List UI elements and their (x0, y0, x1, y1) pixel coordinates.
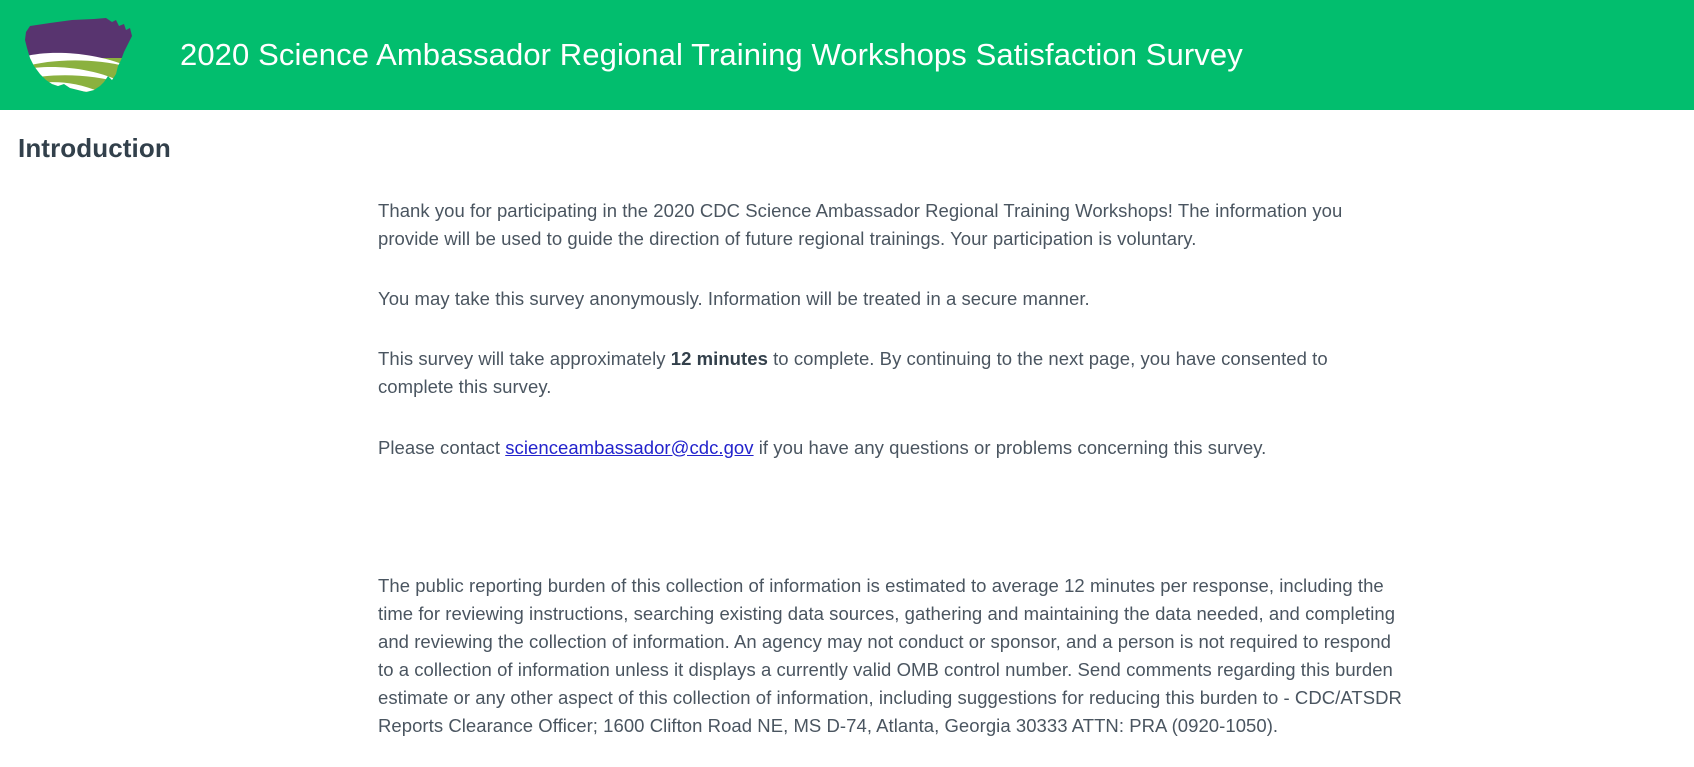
contact-email-link[interactable]: scienceambassador@cdc.gov (505, 437, 753, 458)
page-title: 2020 Science Ambassador Regional Trainin… (180, 36, 1243, 73)
duration-text-before: This survey will take approximately (378, 348, 671, 369)
intro-paragraph-anonymity: You may take this survey anonymously. In… (378, 285, 1404, 313)
intro-paragraph-thank-you: Thank you for participating in the 2020 … (378, 197, 1404, 253)
omb-public-burden-statement: The public reporting burden of this coll… (378, 572, 1404, 741)
contact-text-after: if you have any questions or problems co… (754, 437, 1267, 458)
contact-text-before: Please contact (378, 437, 505, 458)
content-spacer (378, 494, 1404, 572)
duration-bold-value: 12 minutes (671, 348, 768, 369)
cdc-science-ambassador-us-map-logo (20, 14, 140, 96)
intro-paragraph-duration: This survey will take approximately 12 m… (378, 345, 1404, 401)
introduction-content: Thank you for participating in the 2020 … (0, 197, 1694, 740)
page-banner: 2020 Science Ambassador Regional Trainin… (0, 0, 1694, 110)
section-heading-introduction: Introduction (18, 133, 1694, 164)
intro-paragraph-contact: Please contact scienceambassador@cdc.gov… (378, 434, 1404, 462)
